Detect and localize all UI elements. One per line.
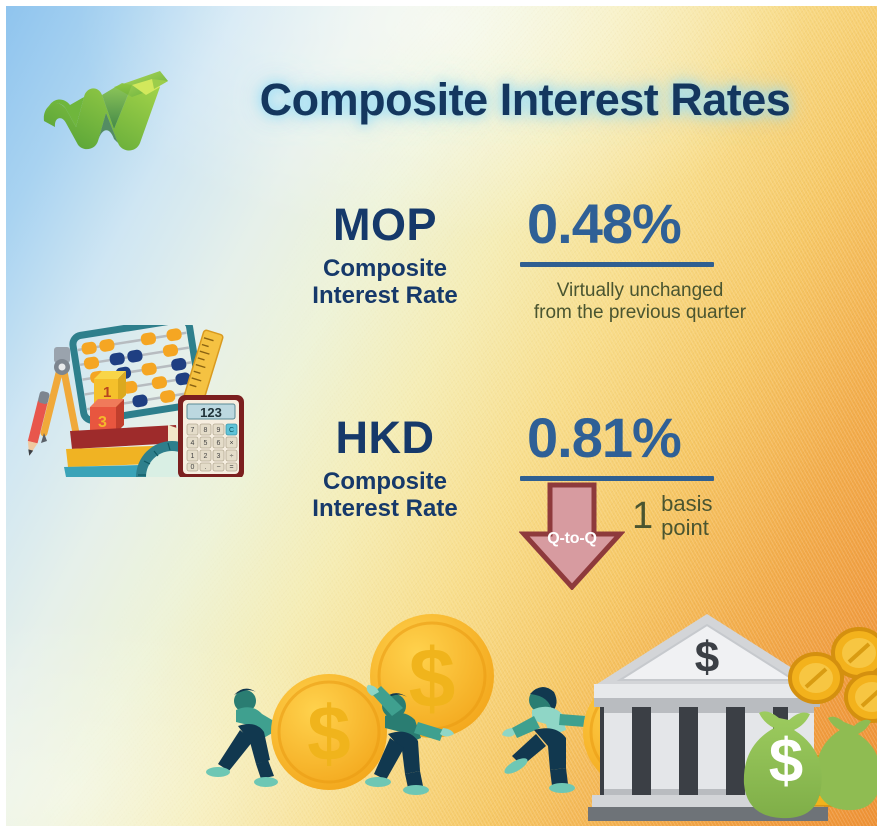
svg-text:0: 0 — [191, 464, 195, 471]
people-pushing-coins-bank-illustration: $ $ — [196, 600, 878, 828]
svg-text:3: 3 — [98, 414, 107, 431]
svg-text:−: − — [216, 464, 220, 471]
svg-text:÷: ÷ — [230, 453, 234, 460]
svg-text:1: 1 — [191, 453, 195, 460]
svg-text:C: C — [229, 427, 234, 434]
stat-label-mop: MOP Composite Interest Rate — [289, 200, 481, 310]
person-running — [502, 687, 597, 793]
money-bag-dollar-symbol: $ — [769, 727, 803, 796]
svg-text:=: = — [229, 464, 233, 471]
svg-text:8: 8 — [204, 427, 208, 434]
currency-sub-line-1-hkd: Composite — [289, 469, 481, 496]
stat-value-underline-mop — [520, 262, 714, 267]
stat-note-mop: Virtually unchanged from the previous qu… — [495, 280, 785, 325]
basis-point-unit-line-2: point — [661, 516, 712, 540]
money-bag-back — [816, 717, 878, 810]
q-to-q-down-arrow-icon: Q-to-Q — [519, 482, 625, 590]
basis-point-change-hkd: 1 basis point — [632, 492, 713, 540]
svg-text:$: $ — [307, 689, 350, 777]
currency-sub-line-2-hkd: Interest Rate — [289, 496, 481, 523]
svg-text:4: 4 — [191, 440, 195, 447]
stat-value-mop: 0.48% — [527, 196, 681, 252]
stat-label-hkd: HKD Composite Interest Rate — [289, 413, 481, 523]
svg-text:$: $ — [409, 631, 456, 725]
svg-text:6: 6 — [217, 440, 221, 447]
green-growth-ribbon-logo — [28, 57, 173, 162]
svg-text:9: 9 — [217, 427, 221, 434]
bank-dollar-symbol: $ — [695, 633, 719, 682]
svg-text:1: 1 — [103, 384, 111, 401]
stat-note-line-2-mop: from the previous quarter — [495, 302, 785, 324]
svg-text:.: . — [205, 464, 207, 471]
stat-value-underline-hkd — [520, 476, 714, 481]
currency-code-hkd: HKD — [289, 413, 481, 463]
basis-point-amount: 1 — [632, 497, 653, 535]
page-title: Composite Interest Rates — [215, 74, 835, 126]
svg-text:7: 7 — [191, 427, 195, 434]
svg-text:2: 2 — [204, 453, 208, 460]
currency-sub-line-1-mop: Composite — [289, 256, 481, 283]
stat-note-line-1-mop: Virtually unchanged — [495, 280, 785, 302]
svg-text:5: 5 — [204, 440, 208, 447]
calculator-display-value: 123 — [200, 405, 222, 420]
basis-point-unit: basis point — [661, 492, 712, 540]
svg-text:3: 3 — [217, 453, 221, 460]
currency-code-mop: MOP — [289, 200, 481, 250]
stat-value-hkd: 0.81% — [527, 410, 681, 466]
infographic-poster: Composite Interest Rates MOP Composite I… — [0, 0, 883, 832]
currency-sub-line-2-mop: Interest Rate — [289, 283, 481, 310]
svg-text:×: × — [229, 440, 233, 447]
abacus-books-calculator-illustration: 1 3 — [18, 325, 256, 477]
basis-point-unit-line-1: basis — [661, 492, 712, 516]
